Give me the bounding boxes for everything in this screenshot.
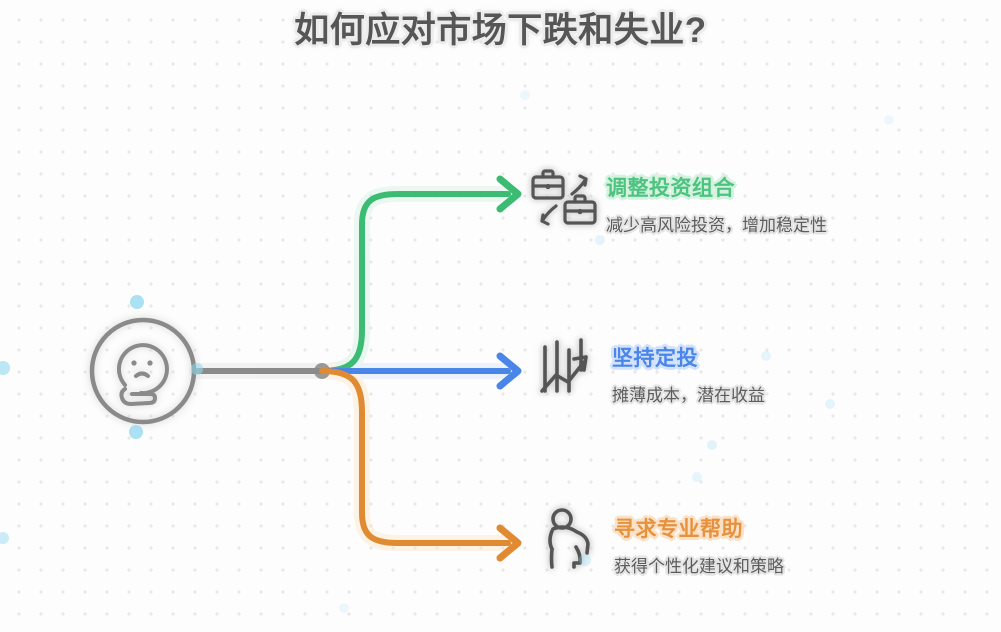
branch-1-text: 调整投资组合 减少高风险投资，增加稳定性 <box>606 164 827 236</box>
center-node[interactable] <box>85 313 201 429</box>
person-advisor-icon <box>536 505 608 577</box>
branch-3-heading: 寻求专业帮助 <box>614 513 784 543</box>
branch-1-heading: 调整投资组合 <box>606 172 827 202</box>
worried-thinking-face-icon <box>119 345 167 404</box>
infographic-canvas: 如何应对市场下跌和失业? <box>0 0 1001 632</box>
branch-3-subtitle: 获得个性化建议和策略 <box>614 552 784 577</box>
branch-3[interactable]: 寻求专业帮助 获得个性化建议和策略 <box>536 505 784 577</box>
rising-chart-arrow-icon <box>534 334 606 406</box>
briefcase-swap-icon <box>528 164 600 236</box>
branch-2-text: 坚持定投 摊薄成本，潜在收益 <box>612 334 765 406</box>
branch-2-heading: 坚持定投 <box>612 342 765 372</box>
branch-1-subtitle: 减少高风险投资，增加稳定性 <box>606 211 827 236</box>
branch-1[interactable]: 调整投资组合 减少高风险投资，增加稳定性 <box>528 164 827 236</box>
branch-1-wire <box>322 194 508 371</box>
center-node-ring <box>92 320 194 422</box>
branch-2-subtitle: 摊薄成本，潜在收益 <box>612 381 765 406</box>
branch-3-wire <box>322 371 508 543</box>
branch-3-text: 寻求专业帮助 获得个性化建议和策略 <box>614 505 784 577</box>
branch-2[interactable]: 坚持定投 摊薄成本，潜在收益 <box>534 334 765 406</box>
